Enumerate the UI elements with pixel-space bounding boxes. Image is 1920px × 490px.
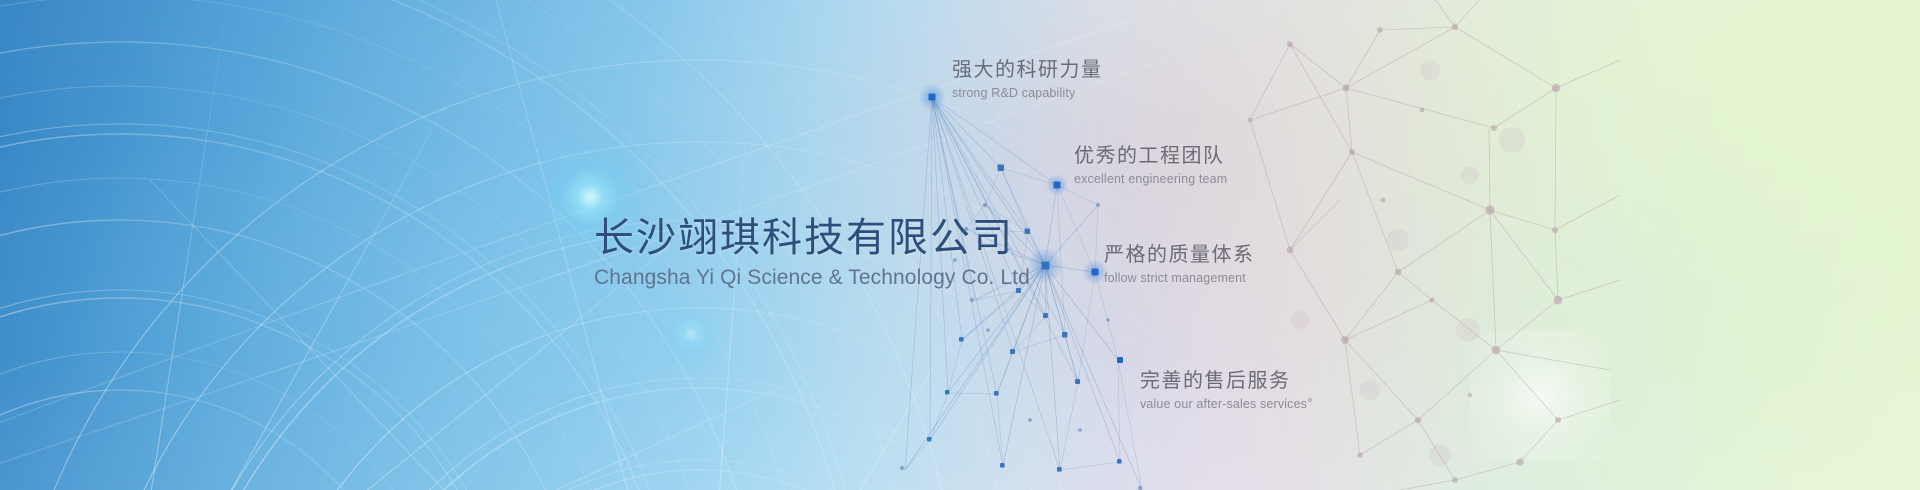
company-name-en: Changsha Yi Qi Science & Technology Co. … — [594, 266, 1030, 290]
feature-rd-capability: 强大的科研力量 strong R&D capability — [952, 53, 1103, 100]
feature-after-sales-title-cn: 完善的售后服务 — [1140, 364, 1307, 393]
feature-after-sales: 完善的售后服务 value our after-sales services — [1140, 364, 1307, 411]
feature-engineering-team: 优秀的工程团队 excellent engineering team — [1074, 139, 1227, 186]
company-hero-banner: 长沙翊琪科技有限公司 Changsha Yi Qi Science & Tech… — [0, 0, 1920, 490]
brand-block: 长沙翊琪科技有限公司 Changsha Yi Qi Science & Tech… — [594, 216, 1030, 290]
feature-after-sales-title-en: value our after-sales services — [1140, 397, 1307, 411]
feature-engineering-team-title-cn: 优秀的工程团队 — [1074, 139, 1227, 168]
feature-rd-capability-title-en: strong R&D capability — [952, 86, 1103, 100]
feature-rd-capability-title-cn: 强大的科研力量 — [952, 53, 1103, 82]
company-name-cn: 长沙翊琪科技有限公司 — [594, 216, 1030, 261]
feature-quality-system-title-en: follow strict management — [1104, 271, 1255, 285]
feature-quality-system: 严格的质量体系 follow strict management — [1104, 238, 1255, 285]
feature-quality-system-title-cn: 严格的质量体系 — [1104, 238, 1255, 267]
feature-engineering-team-title-en: excellent engineering team — [1074, 172, 1227, 186]
